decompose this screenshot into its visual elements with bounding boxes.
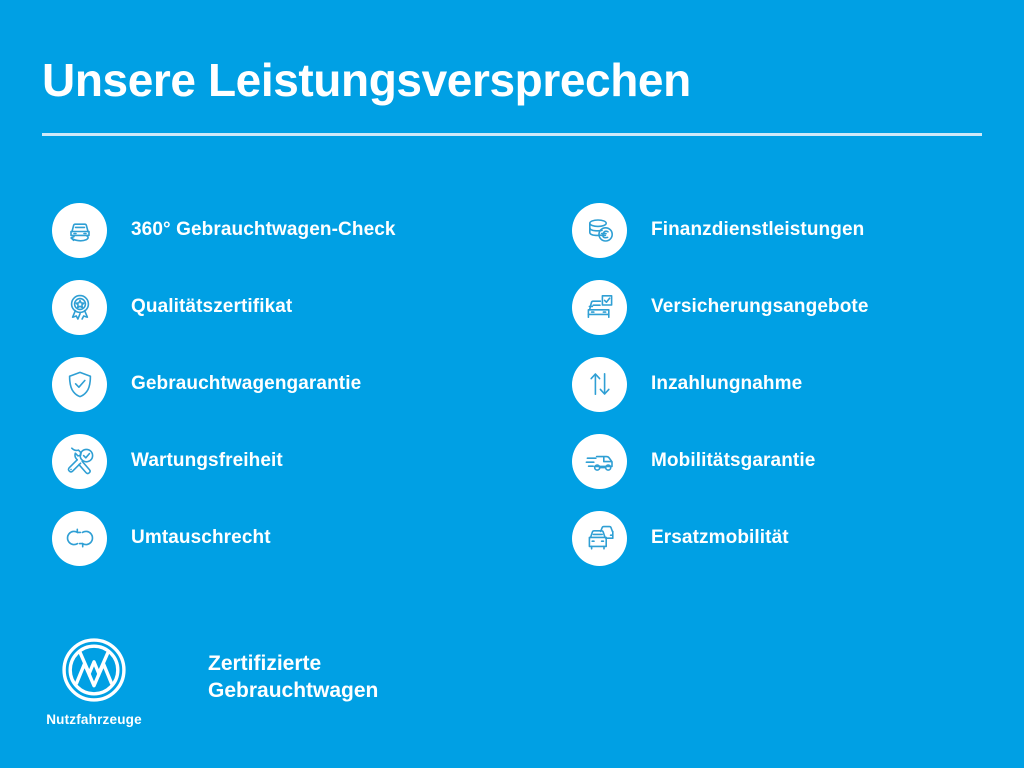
wrench-check-icon <box>52 434 107 489</box>
exchange-arrows-icon <box>52 511 107 566</box>
van-motion-icon <box>572 434 627 489</box>
list-item: Umtauschrecht <box>52 506 396 570</box>
brand-lockup: Nutzfahrzeuge Zertifizierte Gebrauchtwag… <box>42 636 378 727</box>
benefits-column-left: 360° Gebrauchtwagen-Check Qualitätszerti… <box>52 198 396 570</box>
two-cars-icon <box>572 511 627 566</box>
list-item-label: Versicherungsangebote <box>651 296 869 318</box>
list-item: Qualitätszertifikat <box>52 275 396 339</box>
award-rosette-icon <box>52 280 107 335</box>
list-item-label: Umtauschrecht <box>131 527 271 549</box>
title-divider <box>42 133 982 136</box>
vw-logo-icon <box>60 636 128 704</box>
list-item: Mobilitätsgarantie <box>572 429 869 493</box>
brand-subtitle: Nutzfahrzeuge <box>42 712 146 727</box>
list-item-label: Wartungsfreiheit <box>131 450 283 472</box>
list-item: Finanzdienstleistungen <box>572 198 869 262</box>
brand-claim: Zertifizierte Gebrauchtwagen <box>208 650 378 704</box>
list-item: Versicherungsangebote <box>572 275 869 339</box>
brand-claim-line-1: Zertifizierte <box>208 650 378 677</box>
benefits-column-right: Finanzdienstleistungen <box>572 198 869 570</box>
list-item-label: Inzahlungnahme <box>651 373 802 395</box>
brand-mark: Nutzfahrzeuge <box>42 636 146 727</box>
list-item-label: Qualitätszertifikat <box>131 296 292 318</box>
shield-check-icon <box>52 357 107 412</box>
list-item-label: Gebrauchtwagengarantie <box>131 373 361 395</box>
brand-claim-line-2: Gebrauchtwagen <box>208 677 378 704</box>
list-item-label: Finanzdienstleistungen <box>651 219 864 241</box>
list-item: 360° Gebrauchtwagen-Check <box>52 198 396 262</box>
list-item-label: Ersatzmobilität <box>651 527 789 549</box>
list-item: Gebrauchtwagengarantie <box>52 352 396 416</box>
list-item-label: 360° Gebrauchtwagen-Check <box>131 219 396 241</box>
list-item-label: Mobilitätsgarantie <box>651 450 815 472</box>
car-360-check-icon <box>52 203 107 258</box>
coins-euro-icon <box>572 203 627 258</box>
arrows-up-down-icon <box>572 357 627 412</box>
slide-root: Unsere Leistungsversprechen 360° G <box>0 0 1024 768</box>
arrows-up-down-icon-item: Inzahlungnahme <box>572 352 869 416</box>
list-item: Ersatzmobilität <box>572 506 869 570</box>
page-title: Unsere Leistungsversprechen <box>42 52 691 108</box>
car-checkbox-icon <box>572 280 627 335</box>
list-item: Wartungsfreiheit <box>52 429 396 493</box>
